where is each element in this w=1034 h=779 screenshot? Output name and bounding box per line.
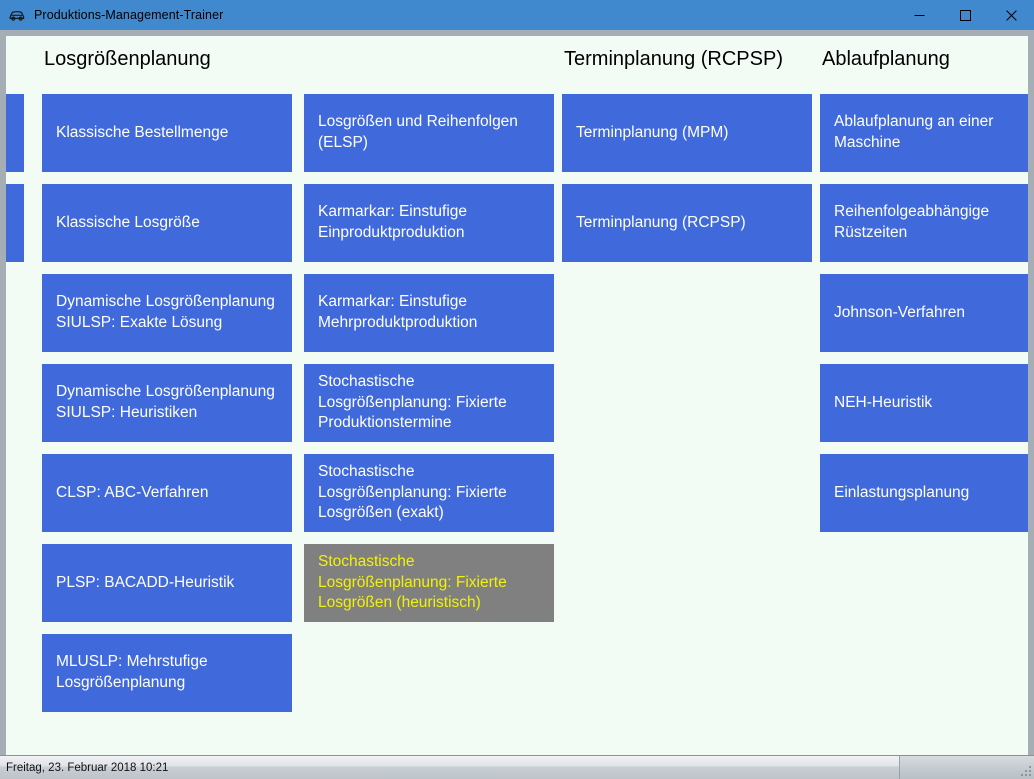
minimize-icon <box>914 10 925 21</box>
menu-tile-label: Klassische Losgröße <box>56 213 200 234</box>
menu-tile[interactable]: Klassische Bestellmenge <box>42 94 292 172</box>
menu-tile[interactable]: CLSP: ABC-Verfahren <box>42 454 292 532</box>
menu-tile-label: Losgrößen und Reihenfolgen (ELSP) <box>318 112 540 153</box>
menu-tile-label: Stochastische Losgrößenplanung: Fixierte… <box>318 462 540 524</box>
column-header <box>304 36 554 82</box>
app-car-icon <box>8 6 26 24</box>
menu-tile[interactable]: Karmarkar: Einstufige Mehrproduktprodukt… <box>304 274 554 352</box>
menu-tile[interactable]: Klassische Losgröße <box>42 184 292 262</box>
column-body <box>6 82 24 755</box>
window-controls <box>896 0 1034 30</box>
menu-tile[interactable]: Karmarkar: Einstufige Einproduktprodukti… <box>304 184 554 262</box>
column-body: Terminplanung (MPM)Terminplanung (RCPSP) <box>562 82 812 755</box>
title-bar[interactable]: Produktions-Management-Trainer <box>0 0 1034 30</box>
menu-tile-label: Dynamische Losgrößenplanung SIULSP: Heur… <box>56 382 278 423</box>
menu-tile-label: Ablaufplanung an einer Maschine <box>834 112 1028 153</box>
menu-tile[interactable]: Ablaufplanung an einer Maschine <box>820 94 1028 172</box>
menu-tile-label: NEH-Heuristik <box>834 393 932 414</box>
menu-tile[interactable]: Stochastische Losgrößenplanung: Fixierte… <box>304 454 554 532</box>
resize-grip-icon[interactable] <box>1018 763 1031 776</box>
menu-tile-label: Dynamische Losgrößenplanung SIULSP: Exak… <box>56 292 278 333</box>
menu-tile-label: PLSP: BACADD-Heuristik <box>56 573 234 594</box>
column-header: Losgrößenplanung <box>42 36 292 82</box>
scrolled-canvas: LosgrößenplanungKlassische BestellmengeK… <box>6 36 1028 755</box>
app-window: Produktions-Management-Trainer Losg <box>0 0 1034 779</box>
menu-tile-label: Stochastische Losgrößenplanung: Fixierte… <box>318 552 540 614</box>
menu-tile[interactable]: Dynamische Losgrößenplanung SIULSP: Heur… <box>42 364 292 442</box>
menu-tile[interactable]: Terminplanung (MPM) <box>562 94 812 172</box>
menu-tile[interactable] <box>6 184 24 262</box>
status-right-panel <box>900 756 1034 779</box>
menu-column-4: AblaufplanungAblaufplanung an einer Masc… <box>820 36 1028 755</box>
menu-tile[interactable] <box>6 94 24 172</box>
menu-tile-label: MLUSLP: Mehrstufige Losgrößenplanung <box>56 652 278 693</box>
status-datetime: Freitag, 23. Februar 2018 10:21 <box>0 756 900 779</box>
menu-column-0 <box>6 36 24 755</box>
menu-column-2: Losgrößen und Reihenfolgen (ELSP)Karmark… <box>304 36 554 755</box>
status-bar: Freitag, 23. Februar 2018 10:21 <box>0 755 1034 779</box>
menu-tile[interactable]: PLSP: BACADD-Heuristik <box>42 544 292 622</box>
menu-tile-label: Johnson-Verfahren <box>834 303 965 324</box>
close-icon <box>1006 10 1017 21</box>
menu-tile[interactable]: Reihenfolgeabhängige Rüstzeiten <box>820 184 1028 262</box>
menu-tile[interactable]: Johnson-Verfahren <box>820 274 1028 352</box>
menu-column-3: Terminplanung (RCPSP)Terminplanung (MPM)… <box>562 36 812 755</box>
menu-tile-label: Karmarkar: Einstufige Mehrproduktprodukt… <box>318 292 540 333</box>
menu-tile-label: CLSP: ABC-Verfahren <box>56 483 209 504</box>
menu-tile-label: Karmarkar: Einstufige Einproduktprodukti… <box>318 202 540 243</box>
column-body: Ablaufplanung an einer MaschineReihenfol… <box>820 82 1028 755</box>
maximize-icon <box>960 10 971 21</box>
menu-tile-label: Klassische Bestellmenge <box>56 123 228 144</box>
menu-tile[interactable]: Stochastische Losgrößenplanung: Fixierte… <box>304 364 554 442</box>
column-header: Ablaufplanung <box>820 36 1028 82</box>
window-frame: LosgrößenplanungKlassische BestellmengeK… <box>0 30 1034 755</box>
column-header <box>6 36 24 82</box>
menu-tile-label: Terminplanung (RCPSP) <box>576 213 746 234</box>
column-body: Klassische BestellmengeKlassische Losgrö… <box>42 82 292 755</box>
menu-tile-label: Terminplanung (MPM) <box>576 123 728 144</box>
maximize-button[interactable] <box>942 0 988 30</box>
window-title: Produktions-Management-Trainer <box>34 8 223 22</box>
close-button[interactable] <box>988 0 1034 30</box>
column-body: Losgrößen und Reihenfolgen (ELSP)Karmark… <box>304 82 554 755</box>
menu-tile[interactable]: Stochastische Losgrößenplanung: Fixierte… <box>304 544 554 622</box>
menu-tile[interactable]: MLUSLP: Mehrstufige Losgrößenplanung <box>42 634 292 712</box>
menu-tile-label: Stochastische Losgrößenplanung: Fixierte… <box>318 372 540 434</box>
menu-tile[interactable]: Terminplanung (RCPSP) <box>562 184 812 262</box>
menu-tile[interactable]: Einlastungsplanung <box>820 454 1028 532</box>
minimize-button[interactable] <box>896 0 942 30</box>
menu-tile-label: Reihenfolgeabhängige Rüstzeiten <box>834 202 1028 243</box>
menu-column-1: LosgrößenplanungKlassische BestellmengeK… <box>42 36 292 755</box>
column-header: Terminplanung (RCPSP) <box>562 36 812 82</box>
menu-tile[interactable]: Losgrößen und Reihenfolgen (ELSP) <box>304 94 554 172</box>
menu-tile[interactable]: NEH-Heuristik <box>820 364 1028 442</box>
menu-tile-label: Einlastungsplanung <box>834 483 969 504</box>
menu-canvas: LosgrößenplanungKlassische BestellmengeK… <box>6 36 1028 755</box>
menu-tile[interactable]: Dynamische Losgrößenplanung SIULSP: Exak… <box>42 274 292 352</box>
